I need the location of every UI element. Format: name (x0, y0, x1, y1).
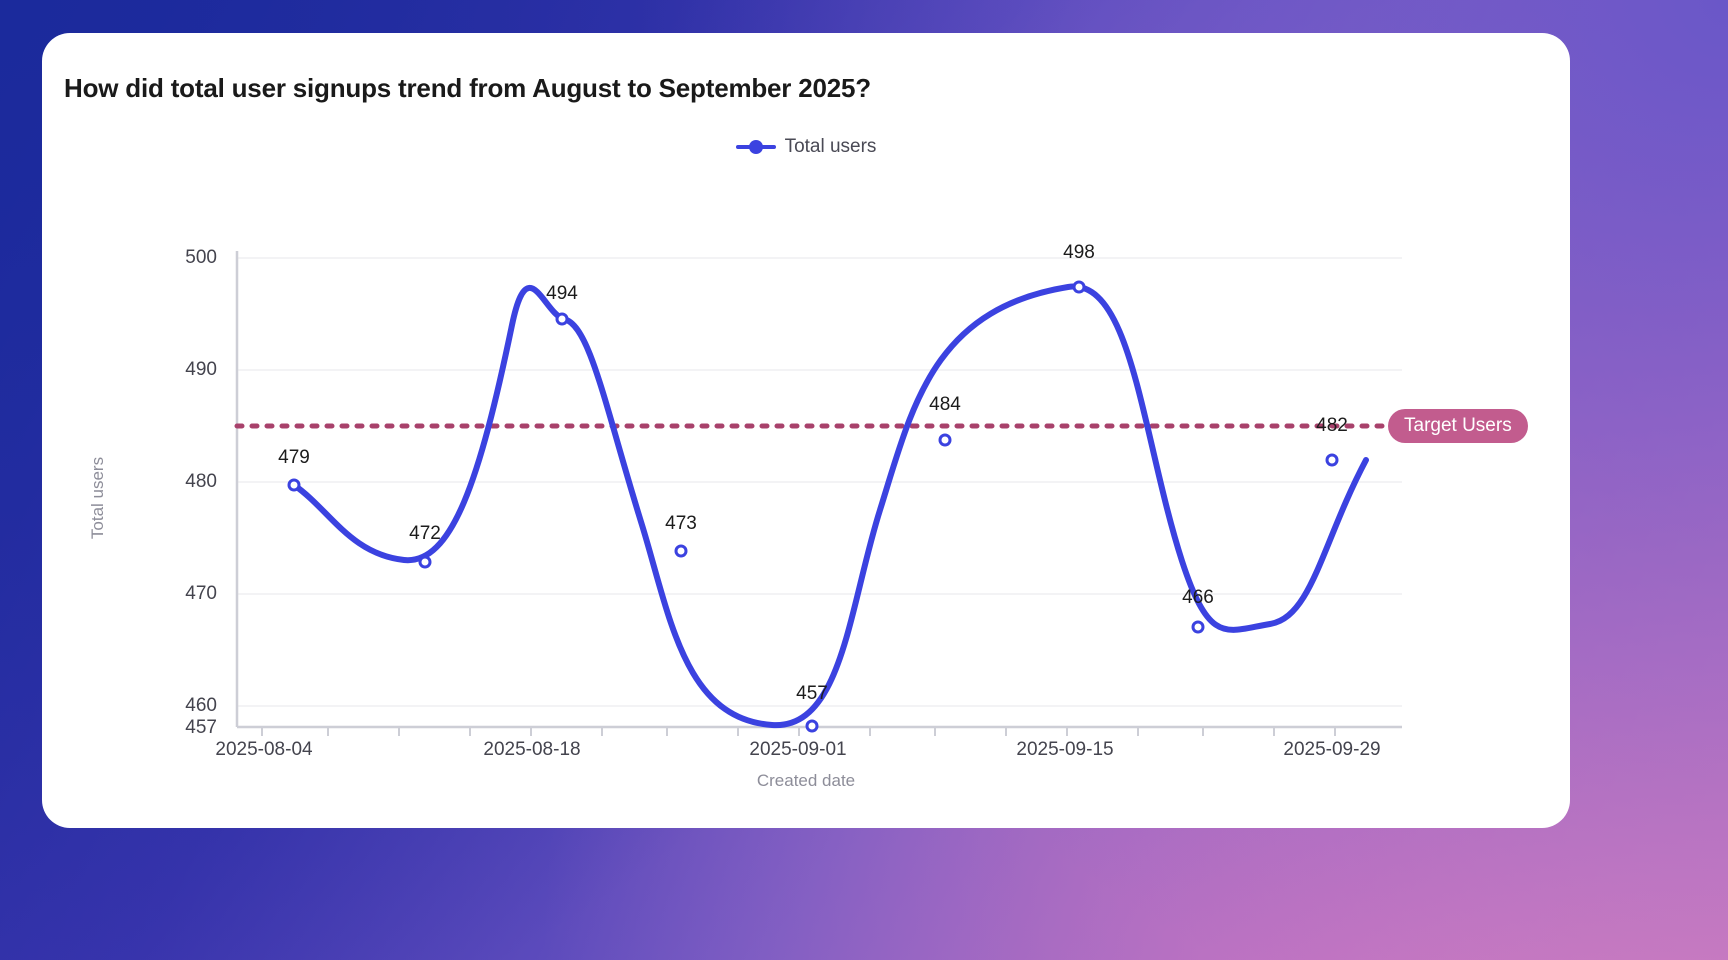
data-point-marker (807, 721, 817, 731)
data-point-marker (1327, 455, 1337, 465)
y-tick-label: 490 (137, 359, 217, 381)
y-tick-label: 480 (137, 471, 217, 493)
data-point-label: 466 (1153, 587, 1243, 609)
data-point-marker (676, 546, 686, 556)
x-tick-label: 2025-09-29 (1232, 739, 1432, 761)
data-point-label: 494 (517, 283, 607, 305)
data-point-label: 457 (767, 683, 857, 705)
x-tick-label: 2025-08-04 (164, 739, 364, 761)
chart-card: How did total user signups trend from Au… (42, 33, 1570, 828)
data-point-marker (1074, 282, 1084, 292)
y-tick-label: 470 (137, 583, 217, 605)
data-point-label: 473 (636, 513, 726, 535)
y-axis-title: Total users (88, 418, 108, 578)
data-point-marker (420, 557, 430, 567)
series-markers-total-users (289, 282, 1337, 731)
data-point-label: 498 (1034, 242, 1124, 264)
x-tick-label: 2025-09-01 (698, 739, 898, 761)
target-users-badge[interactable]: Target Users (1388, 409, 1528, 443)
data-point-marker (557, 314, 567, 324)
gridlines (237, 258, 1402, 706)
series-line-total-users (294, 287, 1366, 726)
data-point-marker (1193, 622, 1203, 632)
y-tick-label: 457 (137, 717, 217, 739)
x-axis-title: Created date (42, 771, 1570, 791)
data-point-label: 484 (900, 394, 990, 416)
data-point-marker (289, 480, 299, 490)
x-tick-label: 2025-09-15 (965, 739, 1165, 761)
data-point-marker (940, 435, 950, 445)
data-point-label: 472 (380, 523, 470, 545)
y-tick-label: 500 (137, 247, 217, 269)
y-tick-label: 460 (137, 695, 217, 717)
x-axis-ticks (262, 727, 1335, 736)
plot-area: 500 490 480 470 460 457 2025-08-04 2025-… (42, 33, 1570, 828)
data-point-label: 479 (249, 447, 339, 469)
data-point-label: 482 (1287, 415, 1377, 437)
x-tick-label: 2025-08-18 (432, 739, 632, 761)
